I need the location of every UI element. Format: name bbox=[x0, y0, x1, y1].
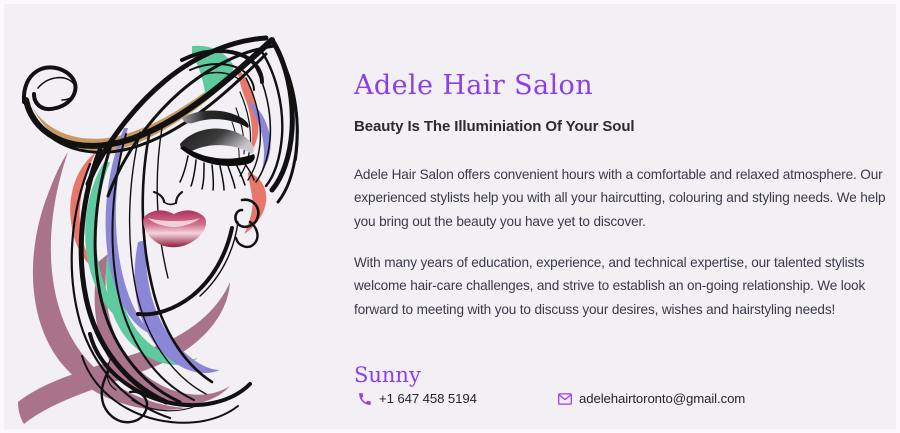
contact-email[interactable]: adelehairtoronto@gmail.com bbox=[558, 390, 745, 408]
phone-number: +1 647 458 5194 bbox=[379, 390, 477, 408]
email-address: adelehairtoronto@gmail.com bbox=[579, 390, 745, 408]
tagline: Beauty Is The Illuminiation Of Your Soul bbox=[354, 119, 634, 134]
content-column: Adele Hair Salon Beauty Is The Illuminia… bbox=[354, 4, 900, 433]
page-title: Adele Hair Salon bbox=[354, 72, 593, 99]
contact-row: +1 647 458 5194 adelehairtoronto@gmail.c… bbox=[358, 390, 898, 410]
envelope-icon bbox=[558, 392, 572, 406]
body-paragraph-2: With many years of education, experience… bbox=[354, 251, 894, 322]
stylist-name: Sunny bbox=[354, 365, 421, 386]
contact-phone[interactable]: +1 647 458 5194 bbox=[358, 390, 477, 408]
body-paragraph-1: Adele Hair Salon offers convenient hours… bbox=[354, 163, 894, 234]
salon-promo-page: Adele Hair Salon Beauty Is The Illuminia… bbox=[0, 0, 900, 433]
phone-icon bbox=[358, 392, 372, 406]
woman-face-line-art-illustration bbox=[4, 4, 344, 433]
